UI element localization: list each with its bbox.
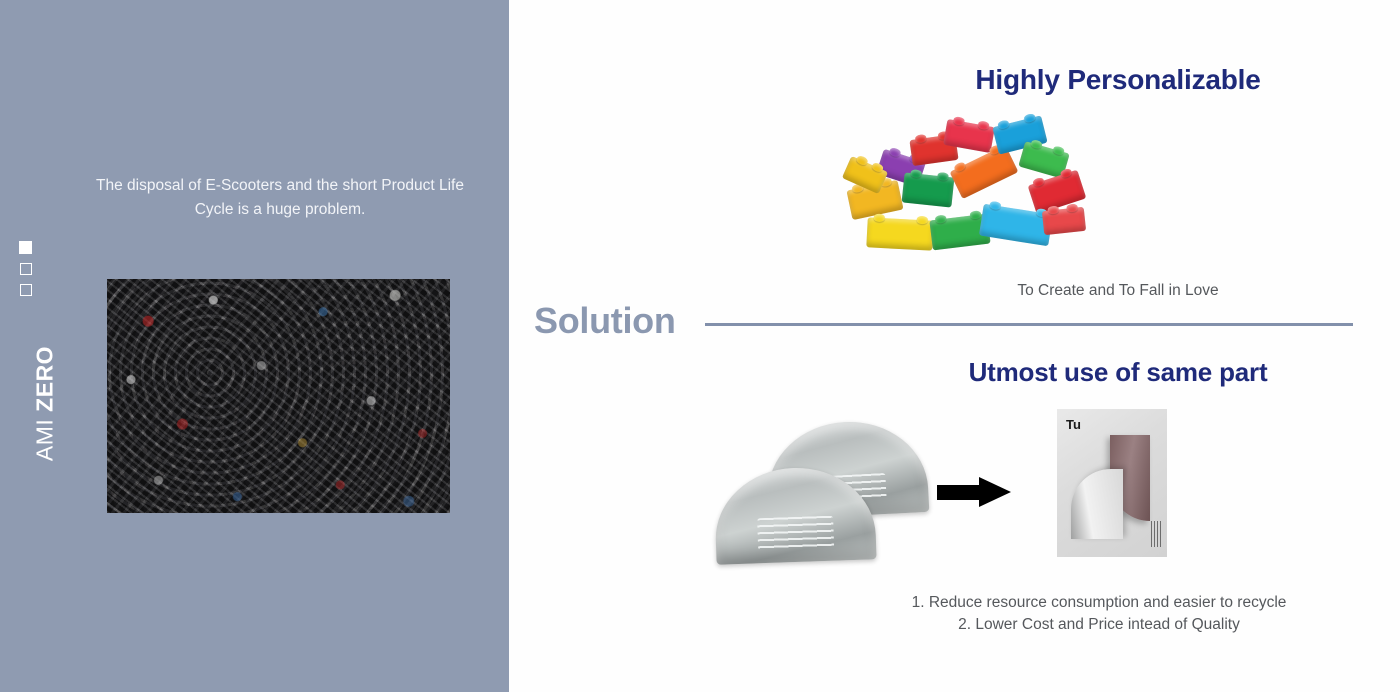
scrapped-scooters-photo (107, 279, 450, 513)
brand-name-bold: ZERO (32, 346, 58, 412)
poster-credits-text (1151, 521, 1161, 547)
right-arrow-icon (937, 477, 1011, 507)
poster-shape-light (1071, 469, 1123, 539)
tu-poster-image: Tu (1057, 409, 1167, 557)
caption-benefit-2: 2. Lower Cost and Price intead of Qualit… (789, 614, 1400, 636)
brand-name: AMI ZERO (32, 324, 59, 484)
heading-highly-personalizable: Highly Personalizable (828, 64, 1400, 96)
caption-to-create: To Create and To Fall in Love (828, 282, 1400, 300)
mark-2 (20, 263, 32, 275)
section-label-solution: Solution (534, 300, 676, 342)
lego-bricks-image (845, 113, 1085, 261)
metal-fender-parts-image (709, 418, 929, 560)
heading-utmost-use: Utmost use of same part (828, 357, 1400, 388)
caption-benefits: 1. Reduce resource consumption and easie… (789, 592, 1400, 637)
presentation-slide: AMI ZERO The disposal of E-Scooters and … (0, 0, 1400, 692)
vent-slots-front (757, 516, 835, 551)
content-area: Highly Personalizable To Create and To F… (509, 0, 1400, 692)
progress-marks (19, 241, 32, 296)
problem-statement: The disposal of E-Scooters and the short… (80, 174, 480, 221)
mark-3 (20, 284, 32, 296)
poster-label: Tu (1066, 417, 1081, 432)
mark-active (19, 241, 32, 254)
caption-benefit-1: 1. Reduce resource consumption and easie… (789, 592, 1400, 614)
brand-name-light: AMI (32, 412, 58, 461)
left-panel: AMI ZERO The disposal of E-Scooters and … (0, 0, 509, 692)
section-divider (705, 323, 1353, 326)
